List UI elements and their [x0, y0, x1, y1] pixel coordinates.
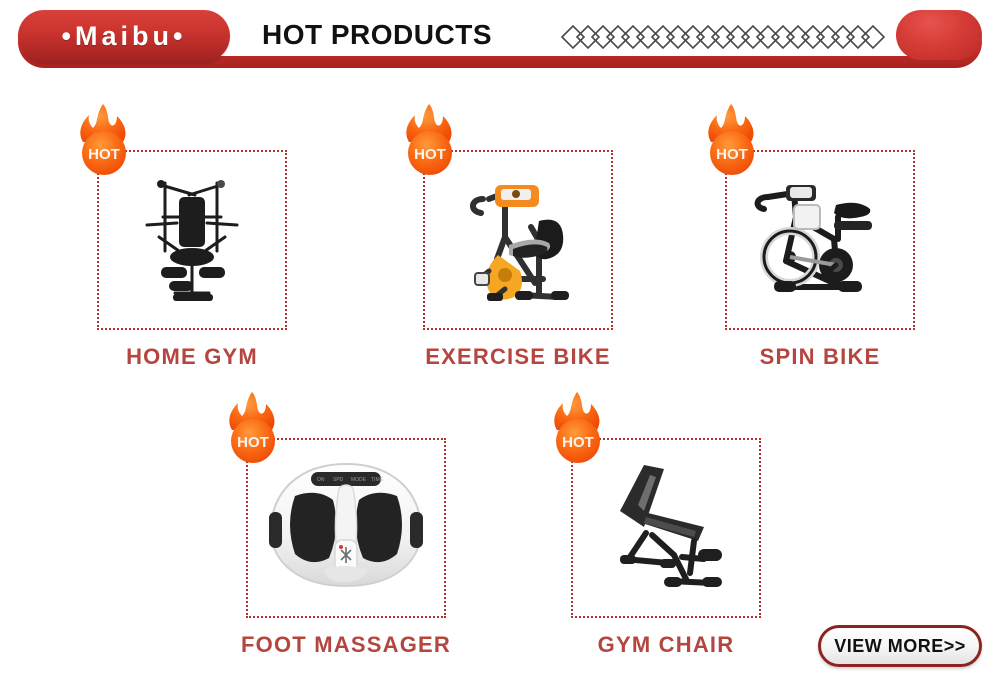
svg-text:MODE: MODE [351, 477, 367, 483]
product-card-exercise-bike[interactable]: HOT [390, 150, 646, 370]
product-label: GYM CHAIR [538, 632, 794, 658]
product-image-frame: HOT [725, 150, 915, 330]
gym-chair-image-icon [573, 440, 759, 616]
product-card-spin-bike[interactable]: HOT [692, 150, 948, 370]
foot-massager-image-icon: ONSPDMODE TIME [248, 440, 444, 616]
view-more-label: VIEW MORE>> [834, 636, 966, 657]
product-image-frame: HOT [423, 150, 613, 330]
exercise-bike-image-icon [425, 152, 611, 328]
product-image-frame: HOT ONSPDMODE TIME [246, 438, 446, 618]
svg-text:ON: ON [317, 477, 325, 483]
product-label: EXERCISE BIKE [390, 344, 646, 370]
product-image-frame: HOT [97, 150, 287, 330]
product-label: FOOT MASSAGER [218, 632, 474, 658]
product-card-gym-chair[interactable]: HOT [538, 438, 794, 658]
product-card-home-gym[interactable]: HOT [64, 150, 320, 370]
brand-logo-text: •Maibu• [62, 23, 187, 50]
diamond-chain-ornament-icon [560, 24, 890, 50]
page-header: •Maibu• HOT PRODUCTS [0, 0, 1000, 88]
spin-bike-image-icon [727, 152, 913, 328]
header-right-cap [896, 10, 982, 60]
home-gym-machine-image-icon [99, 152, 285, 328]
product-image-frame: HOT [571, 438, 761, 618]
product-label: SPIN BIKE [692, 344, 948, 370]
view-more-button[interactable]: VIEW MORE>> [818, 625, 982, 667]
svg-text:SPD: SPD [333, 477, 344, 483]
product-label: HOME GYM [64, 344, 320, 370]
product-grid: HOT [0, 88, 1000, 693]
product-card-foot-massager[interactable]: HOT ONSPDMODE TIME [218, 438, 474, 658]
svg-text:TIME: TIME [371, 477, 384, 483]
brand-logo[interactable]: •Maibu• [18, 10, 230, 62]
page-title: HOT PRODUCTS [262, 19, 492, 51]
